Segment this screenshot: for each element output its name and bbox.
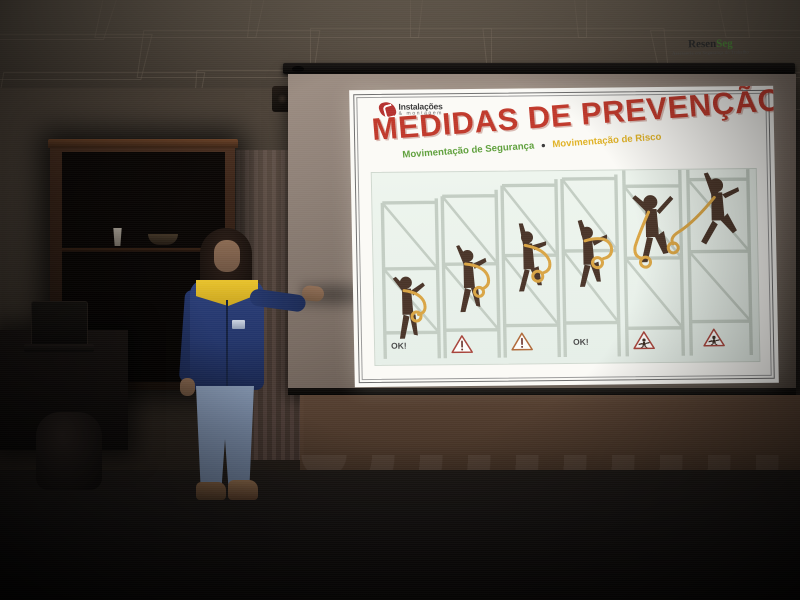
backpack [36,412,102,490]
bay-label-1: OK! [391,341,407,351]
screen-roller-knob [292,66,304,72]
cabinet-top [48,139,238,148]
presenter-left-hand [180,378,195,396]
presenter-face [214,240,240,272]
presenter-pointing-hand [301,285,324,302]
laptop-keyboard-base [24,344,94,352]
scaffold-frames [372,169,760,365]
presenter-boot-right [228,480,258,500]
presentation-photo: Instalações & montagem MEDIDAS DE PREVEN… [0,0,800,600]
warning-exclam-icon-2 [451,334,473,354]
scaffold-illustration: OK! OK! [371,168,761,366]
screen-roller-bar [283,63,795,74]
screen-bottom-edge [288,388,796,395]
presenter-jacket-logo-patch [232,320,245,329]
presenter-jacket-zipper [226,300,228,390]
projected-slide: Instalações & montagem MEDIDAS DE PREVEN… [349,86,779,387]
subtitle-separator: ● [541,141,547,150]
carpet-floor [0,470,800,600]
warning-exclam-icon-3 [511,331,533,351]
resenseg-logo: ResenSeg Assessoria em Segurança do Trab… [672,37,749,55]
bay-label-4: OK! [573,337,589,347]
speaker-cone-icon [277,93,288,104]
presenter-jeans [196,386,254,488]
presenter [176,228,286,500]
presenter-boot-left [196,482,226,500]
laptop [31,301,88,347]
falling-person-icon-6 [703,327,725,347]
falling-person-icon-5 [633,330,655,350]
